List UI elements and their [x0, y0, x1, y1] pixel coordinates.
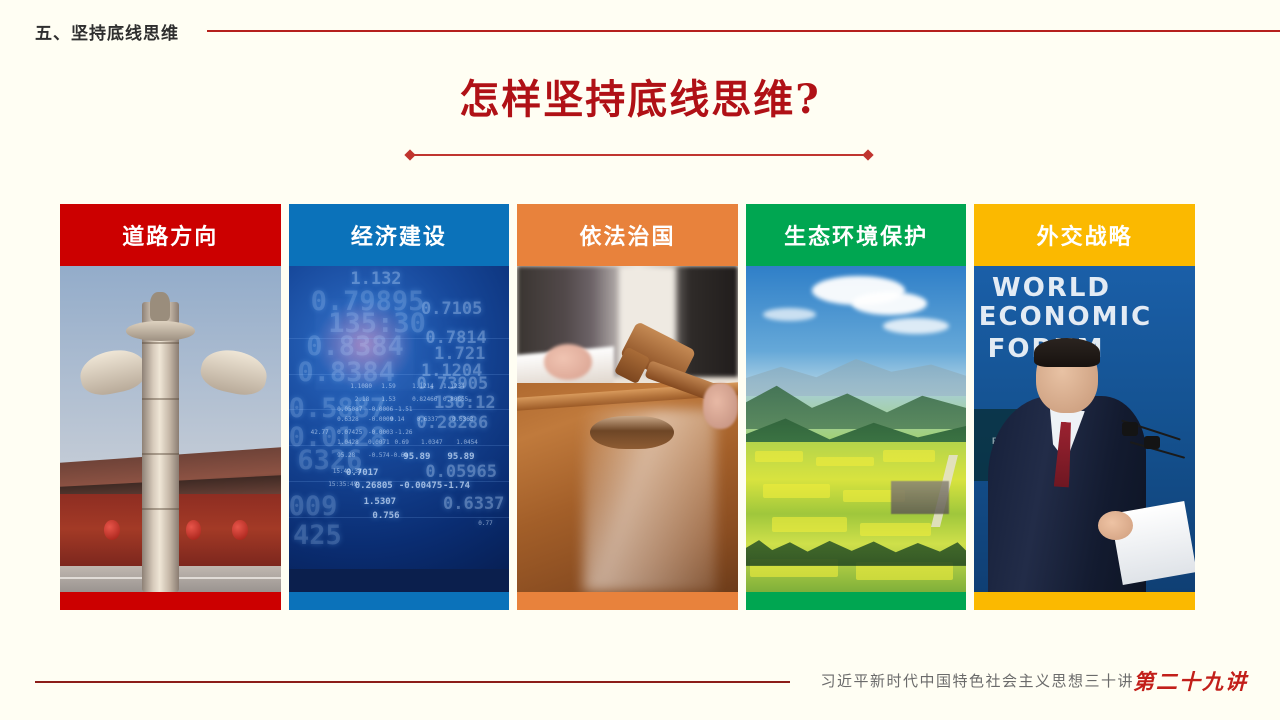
ticker-value: 0.07425 — [337, 429, 362, 436]
ticker-value: -0.574 — [368, 452, 390, 459]
lantern-icon — [232, 520, 247, 540]
speaker-hair — [1034, 338, 1100, 367]
slide-header: 五、坚持底线思维 — [0, 14, 1280, 48]
ticker-value: 0.80865 — [443, 396, 468, 403]
ticker-value: 0.05965 — [425, 462, 497, 482]
field-patch — [763, 484, 829, 497]
ticker-value: 0.7105 — [421, 299, 482, 319]
field-patch — [755, 451, 804, 461]
carving-band — [142, 398, 180, 400]
carved-pillar — [142, 302, 180, 592]
ticker-value: 0.0071 — [368, 439, 390, 446]
sound-block — [590, 416, 674, 449]
ticker-value: 15:35:49 — [328, 481, 357, 488]
ticker-value: 0.6328 — [337, 416, 359, 423]
photo-financial-data: 1.132 0.79895 135:30 0.8384 0.8384 0.588… — [289, 266, 510, 592]
ticker-value: -0.60 — [390, 452, 408, 459]
card-footer-bar — [289, 592, 510, 610]
cloud-icon — [883, 318, 949, 334]
card-grid: 道路方向 经济建设 — [60, 204, 1195, 610]
ticker-value: 15:42:38 — [333, 468, 362, 475]
card-footer-bar — [60, 592, 281, 610]
ticker-value: -0.00475 — [399, 481, 442, 491]
ticker-value: 1.1080 — [350, 383, 372, 390]
ticker-value: 2.18 — [355, 396, 369, 403]
card-eco-protection[interactable]: 生态环境保护 — [746, 204, 967, 610]
card-economic-construction[interactable]: 经济建设 1.132 0.79895 135:30 0.8384 0.8384 … — [289, 204, 510, 610]
section-label: 五、坚持底线思维 — [35, 19, 179, 44]
speaker-hand — [1098, 511, 1133, 540]
title-block: 怎样坚持底线思维? — [0, 74, 1280, 126]
field-patch — [772, 517, 847, 532]
ticker-value: 1.59 — [381, 383, 395, 390]
lantern-icon — [186, 520, 201, 540]
footer-lecture-number: 第二十九讲 — [1133, 666, 1248, 696]
pillar-disc — [126, 321, 194, 341]
ticker-value: 0.6363 — [452, 416, 474, 423]
ticker-value: 0.14 — [390, 416, 404, 423]
footer-series-title: 习近平新时代中国特色社会主义思想三十讲 — [820, 670, 1134, 691]
header-divider — [207, 30, 1280, 32]
card-title-rule-of-law: 依法治国 — [517, 204, 738, 266]
field-patch — [860, 523, 931, 536]
backdrop-word-economic: ECONOMIC — [979, 302, 1152, 332]
title-underline-ornament — [406, 150, 872, 160]
ticker-value: 0.6337 — [443, 494, 504, 514]
card-footer-bar — [746, 592, 967, 610]
ticker-value: 95.28 — [337, 452, 355, 459]
lantern-icon — [104, 520, 119, 540]
card-diplomatic-strategy[interactable]: 外交战略 WORLD ECONOMIC FORUM ED TO SE STATE… — [974, 204, 1195, 610]
card-rule-of-law[interactable]: 依法治国 — [517, 204, 738, 610]
ticker-value: 0.05087 — [337, 406, 362, 413]
carving-band — [142, 342, 180, 344]
ticker-value: 0.69 — [394, 439, 408, 446]
hand-right — [703, 383, 738, 429]
slide-footer: 习近平新时代中国特色社会主义思想三十讲 第二十九讲 — [0, 664, 1280, 720]
village-houses — [891, 481, 948, 514]
field-patch — [816, 457, 873, 466]
ticker-value: 0.756 — [372, 511, 399, 521]
card-title-eco-protection: 生态环境保护 — [746, 204, 967, 266]
card-footer-bar — [517, 592, 738, 610]
ticker-value: -1.51 — [394, 406, 412, 413]
ticker-value: -1.26 — [394, 429, 412, 436]
ticker-value: -0.0003 — [368, 429, 393, 436]
card-title-economic-construction: 经济建设 — [289, 204, 510, 266]
diamond-right-icon — [862, 149, 873, 160]
microphone-icon — [1144, 436, 1159, 449]
ticker-value: 1.1214 — [412, 383, 434, 390]
ticker-value: 1.0454 — [456, 439, 478, 446]
ticker-value: 0.82466 — [412, 396, 437, 403]
photo-rapeseed-landscape — [746, 266, 967, 592]
cloud-icon — [763, 308, 816, 321]
ticker-value: -0.0006 — [368, 406, 393, 413]
ticker-value: 1.53 — [381, 396, 395, 403]
ticker-value: 42.77 — [311, 429, 329, 436]
carving-band — [142, 453, 180, 455]
ticker-value: 0.26805 — [355, 481, 393, 491]
field-patch — [883, 450, 936, 462]
ticker-value: 1.0347 — [421, 439, 443, 446]
page-title: 怎样坚持底线思维? — [0, 74, 1280, 126]
ticker-value: 0.77 — [478, 520, 492, 527]
card-footer-bar — [974, 592, 1195, 610]
ticker-value: 1.1234 — [443, 383, 465, 390]
card-title-diplomatic-strategy: 外交战略 — [974, 204, 1195, 266]
hand-left — [544, 344, 593, 380]
microphone-icon — [1122, 422, 1137, 435]
ticker-value: 95.89 — [447, 452, 474, 462]
ticker-value: 009 — [289, 491, 338, 522]
ticker-value: 425 — [293, 520, 342, 551]
photo-huabiao-column — [60, 266, 281, 592]
footer-divider — [35, 681, 790, 683]
ticker-value: 1.0428 — [337, 439, 359, 446]
photo-wef-speaker: WORLD ECONOMIC FORUM ED TO SE STATE LD — [974, 266, 1195, 592]
underline-rule — [412, 154, 866, 156]
photo-judge-gavel — [517, 266, 738, 592]
ticker-value: -1.74 — [443, 481, 470, 491]
backdrop-word-world: WORLD — [992, 273, 1111, 303]
cloud-icon — [852, 292, 927, 315]
stone-beast-icon — [150, 292, 170, 321]
carving-band — [142, 508, 180, 510]
card-title-road-direction: 道路方向 — [60, 204, 281, 266]
ticker-value: 1.5307 — [364, 497, 397, 507]
ticker-value: 0.6337 — [417, 416, 439, 423]
bottom-band — [289, 569, 510, 592]
card-road-direction[interactable]: 道路方向 — [60, 204, 281, 610]
